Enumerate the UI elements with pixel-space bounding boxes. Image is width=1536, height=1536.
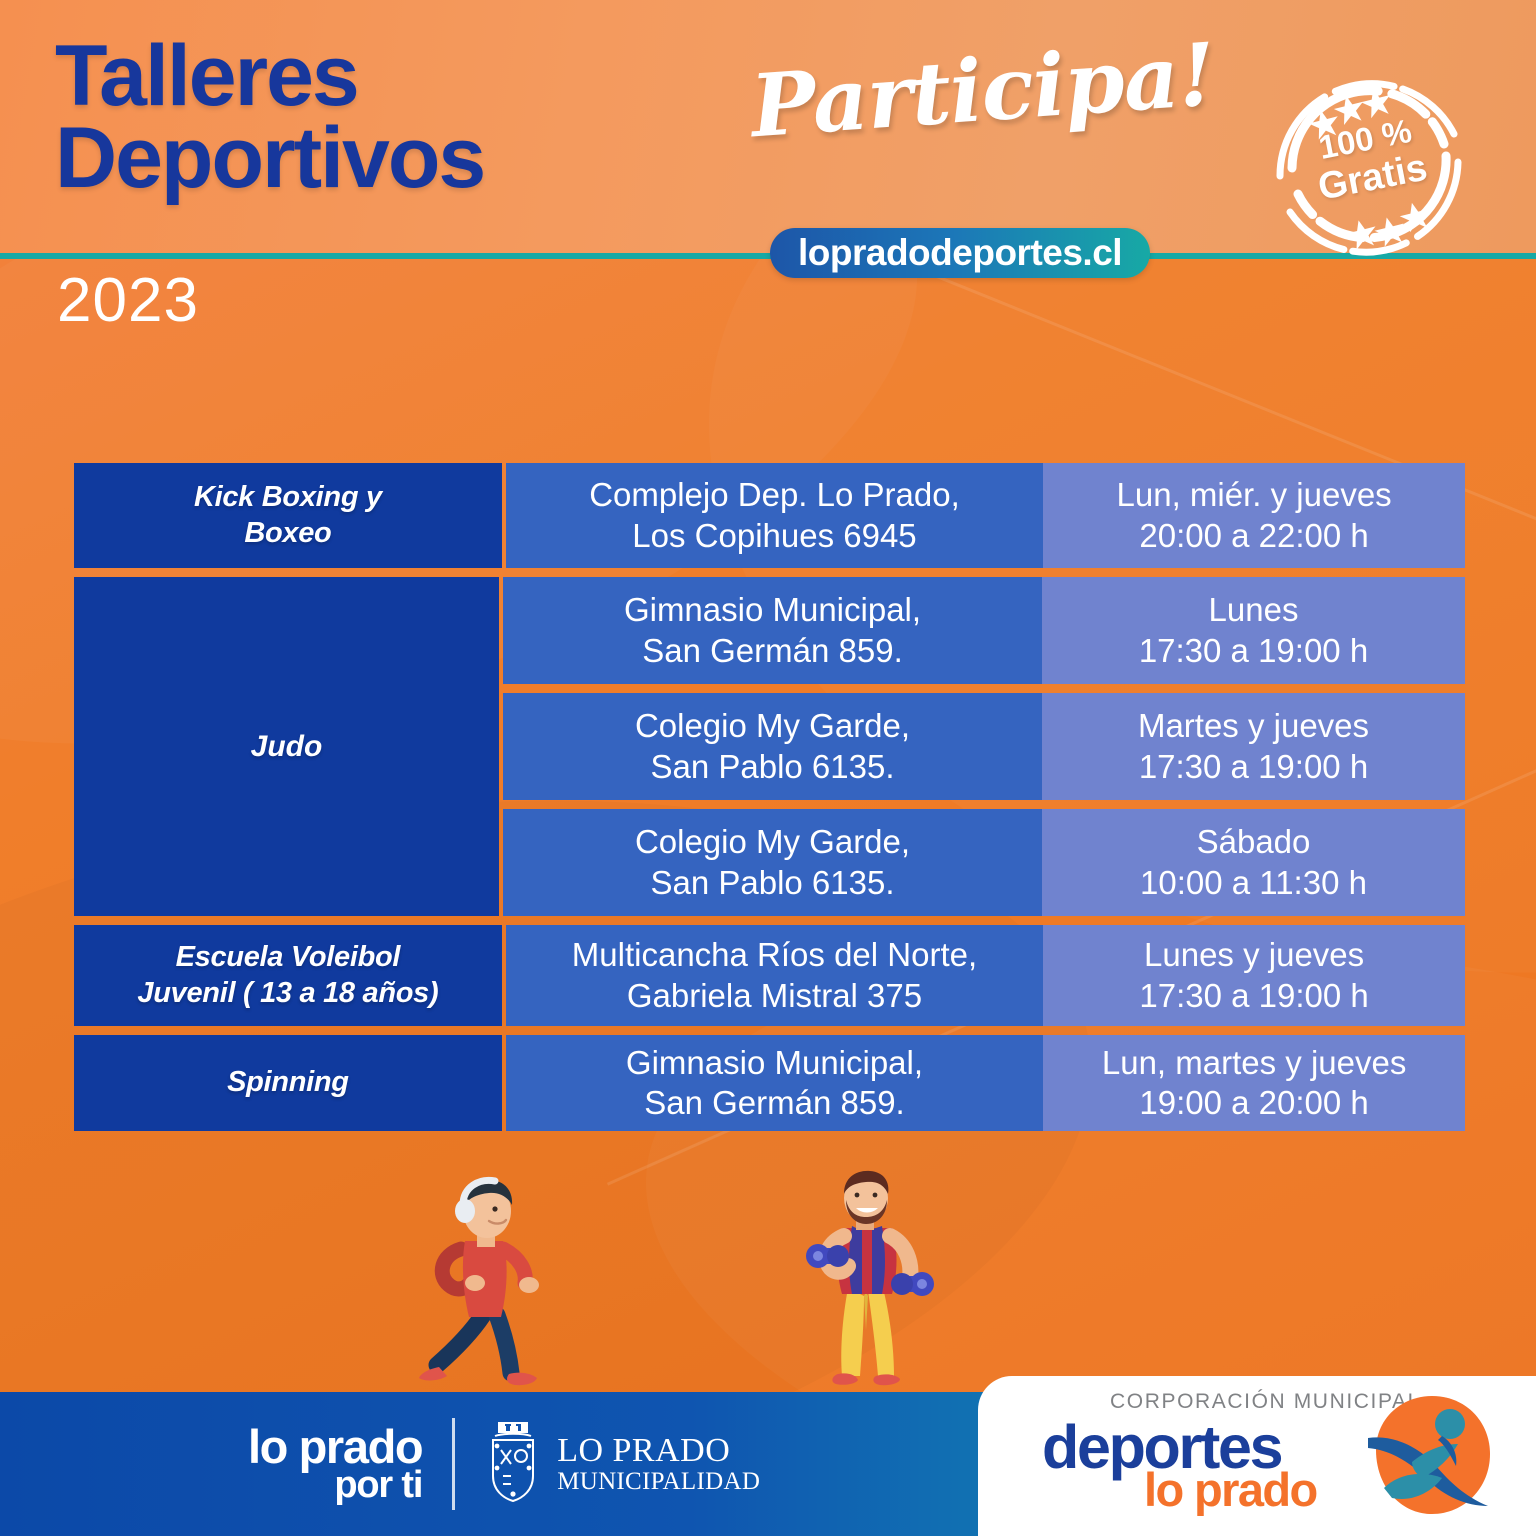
time-line-2: 17:30 a 19:00 h: [1139, 976, 1368, 1016]
table-row: Escuela Voleibol Juvenil ( 13 a 18 años)…: [74, 925, 1465, 1026]
workshop-name-judo: Judo: [251, 730, 323, 764]
workshop-place-cell: Multicancha Ríos del Norte, Gabriela Mis…: [506, 925, 1043, 1026]
coat-of-arms-icon: [485, 1420, 541, 1509]
workshop-name-cell-judo: Judo: [74, 577, 499, 916]
time-line-2: 19:00 a 20:00 h: [1102, 1083, 1406, 1123]
time-line-1: Lunes y jueves: [1139, 935, 1368, 975]
workshop-name-cell: Escuela Voleibol Juvenil ( 13 a 18 años): [74, 925, 502, 1026]
time-line-2: 20:00 a 22:00 h: [1117, 516, 1392, 556]
workshop-name-line-1: Kick Boxing y: [194, 480, 382, 515]
page-title: Talleres Deportivos: [55, 36, 484, 199]
workshop-time-cell: Lun, martes y jueves 19:00 a 20:00 h: [1043, 1035, 1465, 1131]
time-line-1: Martes y jueves: [1138, 706, 1369, 746]
municipality-name: LO PRADO MUNICIPALIDAD: [557, 1433, 760, 1495]
workshop-name-line-2: Juvenil ( 13 a 18 años): [137, 976, 438, 1011]
workshop-place-cell: Complejo Dep. Lo Prado, Los Copihues 694…: [506, 463, 1043, 568]
place-line-1: Gimnasio Municipal,: [626, 1043, 923, 1083]
place-line-1: Multicancha Ríos del Norte,: [572, 935, 977, 975]
table-row: Spinning Gimnasio Municipal, San Germán …: [74, 1035, 1465, 1131]
time-line-1: Lunes: [1139, 590, 1368, 630]
athlete-mark-icon: [1354, 1392, 1499, 1522]
workshop-time-cell: Martes y jueves 17:30 a 19:00 h: [1042, 693, 1465, 800]
time-line-2: 17:30 a 19:00 h: [1139, 631, 1368, 671]
time-line-1: Lun, miér. y jueves: [1117, 475, 1392, 515]
por-ti-label: por ti: [248, 1468, 422, 1503]
table-row: Colegio My Garde, San Pablo 6135. Martes…: [503, 693, 1465, 800]
deportes-logo-inner: CORPORACIÓN MUNICIPAL deportes lo prado: [1014, 1390, 1514, 1520]
place-line-1: Gimnasio Municipal,: [624, 590, 921, 630]
workshop-time-cell: Lunes y jueves 17:30 a 19:00 h: [1043, 925, 1465, 1026]
place-line-2: San Germán 859.: [624, 631, 921, 671]
judo-group: Judo Gimnasio Municipal, San Germán 859.…: [74, 577, 1465, 916]
workshop-name-line-1: Spinning: [227, 1065, 349, 1100]
workshop-name-cell: Spinning: [74, 1035, 502, 1131]
workshop-place-cell: Colegio My Garde, San Pablo 6135.: [503, 693, 1042, 800]
website-url-pill[interactable]: lopradodeportes.cl: [770, 228, 1150, 278]
workshop-place-cell: Gimnasio Municipal, San Germán 859.: [503, 577, 1042, 684]
shield-line-1: LO PRADO: [557, 1433, 760, 1469]
place-line-2: San Pablo 6135.: [635, 747, 910, 787]
table-row: Colegio My Garde, San Pablo 6135. Sábado…: [503, 809, 1465, 916]
municipality-shield-group: LO PRADO MUNICIPALIDAD: [485, 1420, 760, 1509]
poster-canvas: Talleres Deportivos 2023 Participa! lopr…: [0, 0, 1536, 1536]
lo-prado-por-ti-logo: lo prado por ti: [248, 1425, 422, 1503]
workshop-place-cell: Colegio My Garde, San Pablo 6135.: [503, 809, 1042, 916]
workshop-name-cell: Kick Boxing y Boxeo: [74, 463, 502, 568]
workshop-place-cell: Gimnasio Municipal, San Germán 859.: [506, 1035, 1043, 1131]
year-label: 2023: [57, 265, 199, 336]
place-line-2: Gabriela Mistral 375: [572, 976, 977, 1016]
table-row: Gimnasio Municipal, San Germán 859. Lune…: [503, 577, 1465, 684]
time-line-1: Lun, martes y jueves: [1102, 1043, 1406, 1083]
place-line-1: Complejo Dep. Lo Prado,: [589, 475, 960, 515]
runner-illustration: [405, 1175, 585, 1390]
time-line-1: Sábado: [1140, 822, 1367, 862]
workshop-time-cell: Sábado 10:00 a 11:30 h: [1042, 809, 1465, 916]
title-line-2: Deportivos: [55, 118, 484, 200]
lo-prado-wordmark: lo prado: [1144, 1462, 1317, 1517]
place-line-2: San Pablo 6135.: [635, 863, 910, 903]
lo-prado-label: lo prado: [248, 1425, 422, 1468]
time-line-2: 10:00 a 11:30 h: [1140, 863, 1367, 903]
workshop-name-line-1: Escuela Voleibol: [137, 940, 438, 975]
table-row: Kick Boxing y Boxeo Complejo Dep. Lo Pra…: [74, 463, 1465, 568]
deportes-lo-prado-logo-card: CORPORACIÓN MUNICIPAL deportes lo prado: [978, 1376, 1536, 1536]
place-line-2: Los Copihues 6945: [589, 516, 960, 556]
shield-line-2: MUNICIPALIDAD: [557, 1469, 760, 1495]
lifter-illustration: [790, 1170, 940, 1390]
workshop-time-cell: Lunes 17:30 a 19:00 h: [1042, 577, 1465, 684]
municipality-branding: lo prado por ti: [248, 1418, 760, 1510]
place-line-1: Colegio My Garde,: [635, 822, 910, 862]
workshop-time-cell: Lun, miér. y jueves 20:00 a 22:00 h: [1043, 463, 1465, 568]
time-line-2: 17:30 a 19:00 h: [1138, 747, 1369, 787]
place-line-1: Colegio My Garde,: [635, 706, 910, 746]
place-line-2: San Germán 859.: [626, 1083, 923, 1123]
footer-divider: [452, 1418, 455, 1510]
workshop-name-line-2: Boxeo: [194, 516, 382, 551]
schedule-table: Kick Boxing y Boxeo Complejo Dep. Lo Pra…: [74, 463, 1465, 1131]
judo-subrows: Gimnasio Municipal, San Germán 859. Lune…: [503, 577, 1465, 916]
free-badge-seal: 100 % Gratis: [1258, 48, 1480, 270]
